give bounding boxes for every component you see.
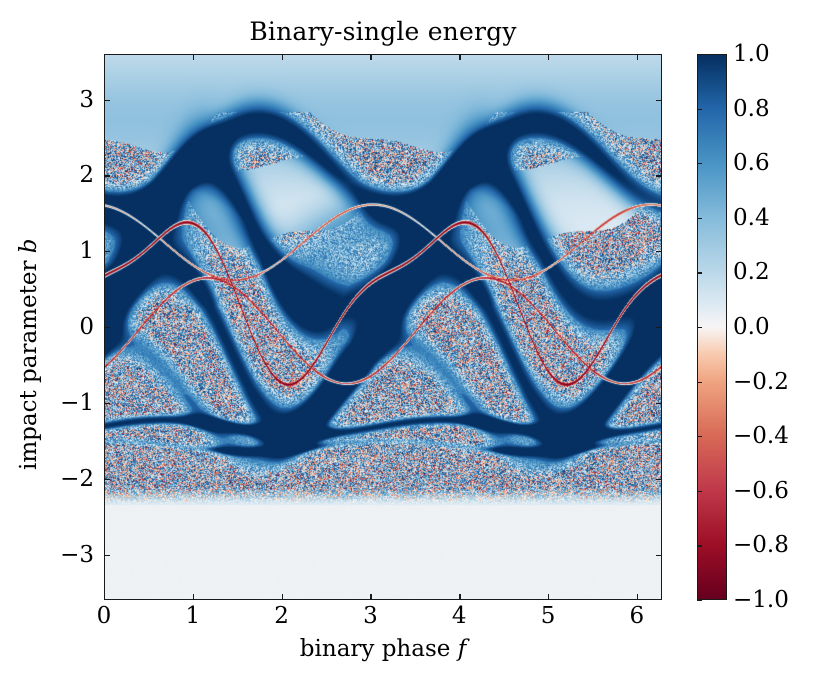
colorbar-tick: [697, 218, 702, 219]
x-tick-top: [548, 54, 549, 60]
colorbar-tick: [697, 545, 702, 546]
x-tick: [193, 594, 194, 600]
y-tick-right: [656, 251, 662, 252]
x-tick: [370, 594, 371, 600]
plot-axes-frame: [104, 54, 662, 600]
y-tick-label: −3: [34, 541, 94, 569]
colorbar-tick-label: 1.0: [733, 40, 813, 68]
x-tick-top: [282, 54, 283, 60]
colorbar-tick: [697, 436, 702, 437]
y-tick-right: [656, 403, 662, 404]
y-tick-right: [656, 555, 662, 556]
x-axis-label-var: f: [458, 636, 467, 662]
colorbar-tick: [697, 109, 702, 110]
y-tick-right: [656, 479, 662, 480]
colorbar-tick: [697, 54, 702, 55]
colorbar-tick-label: 0.2: [733, 258, 813, 286]
x-tick-label: 2: [252, 602, 312, 630]
colorbar-tick-label: 0.0: [733, 313, 813, 341]
y-tick-label: 3: [34, 86, 94, 114]
y-tick: [104, 555, 110, 556]
y-tick-label: 2: [34, 161, 94, 189]
y-tick: [104, 251, 110, 252]
plot-title: Binary-single energy: [104, 16, 662, 48]
y-axis-label-var: b: [16, 239, 42, 254]
x-tick: [459, 594, 460, 600]
y-tick: [104, 175, 110, 176]
x-tick-label: 3: [340, 602, 400, 630]
colorbar-tick-label: 0.8: [733, 95, 813, 123]
x-tick-top: [104, 54, 105, 60]
x-tick: [637, 594, 638, 600]
colorbar-tick: [697, 491, 702, 492]
y-axis-label: impact parameter b: [14, 239, 44, 471]
colorbar-tick-label: −0.8: [733, 531, 813, 559]
y-tick: [104, 479, 110, 480]
colorbar-tick: [697, 327, 702, 328]
x-tick-label: 0: [74, 602, 134, 630]
x-tick-top: [193, 54, 194, 60]
colorbar-tick: [697, 272, 702, 273]
x-tick: [548, 594, 549, 600]
colorbar-tick-label: −0.6: [733, 477, 813, 505]
y-tick-right: [656, 175, 662, 176]
y-axis-label-text: impact parameter: [16, 253, 42, 470]
colorbar-tick-label: −0.4: [733, 422, 813, 450]
x-tick-label: 4: [429, 602, 489, 630]
y-tick: [104, 327, 110, 328]
colorbar-tick: [697, 163, 702, 164]
x-tick: [282, 594, 283, 600]
colorbar-tick: [697, 600, 702, 601]
colorbar-tick-label: −1.0: [733, 586, 813, 614]
colorbar-tick-label: −0.2: [733, 368, 813, 396]
x-tick-label: 6: [607, 602, 667, 630]
y-tick: [104, 100, 110, 101]
y-tick: [104, 403, 110, 404]
x-tick-top: [459, 54, 460, 60]
x-tick-top: [637, 54, 638, 60]
x-tick: [104, 594, 105, 600]
x-tick-label: 1: [163, 602, 223, 630]
x-axis-label: binary phase f: [104, 634, 662, 664]
colorbar-tick-label: 0.6: [733, 149, 813, 177]
colorbar-tick-label: 0.4: [733, 204, 813, 232]
figure-canvas-area: Binary-single energy 01234563210−1−2−31.…: [0, 0, 830, 692]
x-axis-label-text: binary phase: [300, 636, 458, 662]
y-tick-right: [656, 327, 662, 328]
x-tick-label: 5: [518, 602, 578, 630]
y-tick-right: [656, 100, 662, 101]
colorbar-tick: [697, 382, 702, 383]
x-tick-top: [370, 54, 371, 60]
